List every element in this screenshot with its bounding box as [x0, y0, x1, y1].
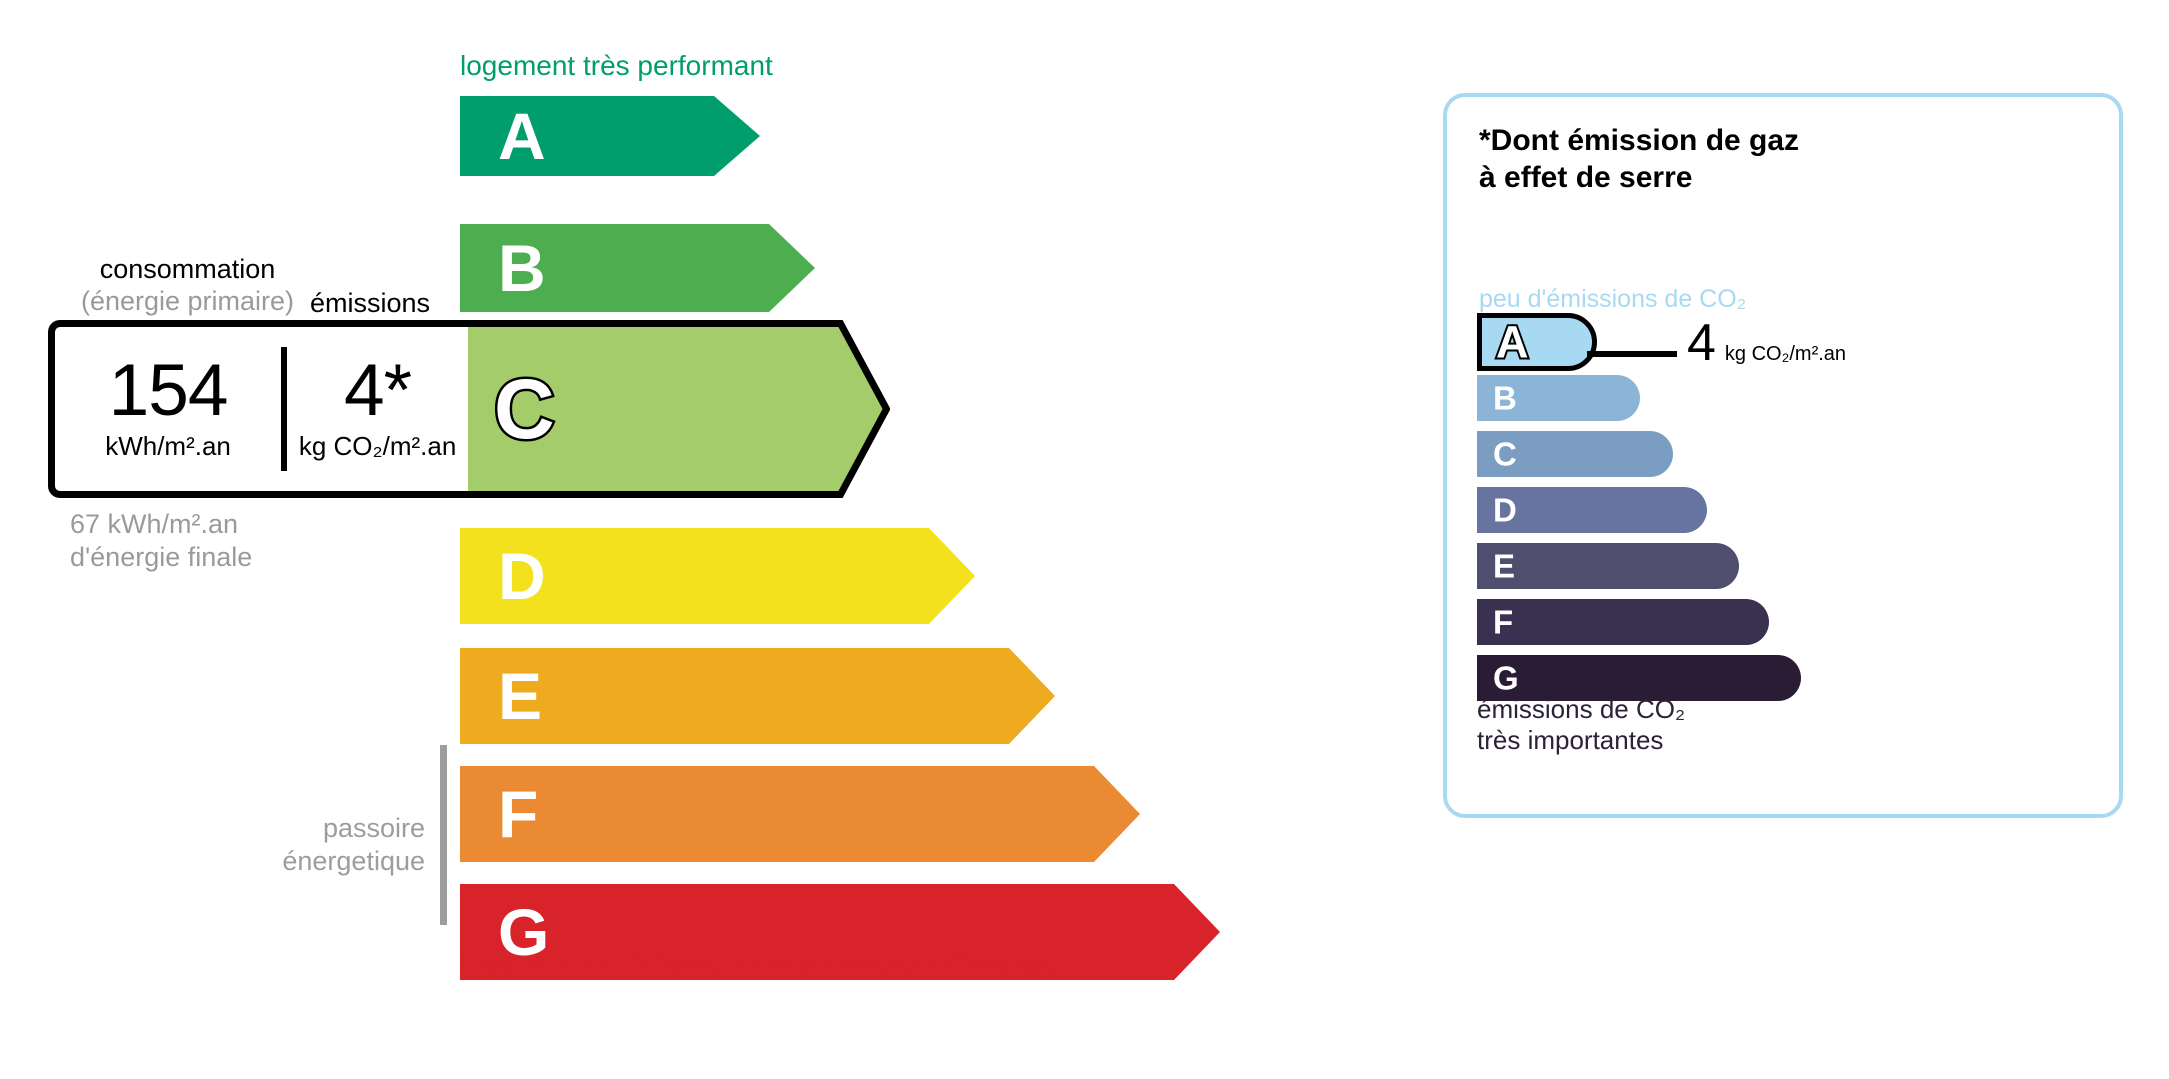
co2-bar-letter-b: B — [1493, 382, 1517, 415]
passoire-label: passoire énergetique — [250, 812, 425, 878]
co2-bottom-label-line2: très importantes — [1477, 725, 1685, 756]
co2-unit: kg CO₂/m².an — [1725, 343, 1846, 366]
consumption-value: 154 — [109, 356, 228, 425]
co2-bar-letter-e: E — [1493, 550, 1515, 583]
co2-bar-letter-a: A — [1496, 320, 1529, 365]
energy-bar-a: A — [460, 96, 760, 176]
co2-bar-letter-g: G — [1493, 662, 1519, 695]
energy-bar-shape-a — [460, 96, 760, 176]
co2-leader-line — [1587, 351, 1677, 357]
co2-bar-e: E — [1477, 543, 1739, 589]
consommation-label: consommation (énergie primaire) — [70, 254, 305, 318]
energy-bar-shape-f — [460, 766, 1140, 862]
co2-bar-c: C — [1477, 431, 1673, 477]
final-energy-value: 67 kWh/m².an — [70, 508, 252, 541]
passoire-marker-line — [440, 745, 447, 925]
co2-title-line1: *Dont émission de gaz — [1479, 123, 1799, 160]
co2-bar-letter-c: C — [1493, 438, 1517, 471]
emission-unit: kg CO₂/m².an — [299, 431, 456, 462]
final-energy-note: 67 kWh/m².an d'énergie finale — [70, 508, 252, 574]
consommation-label-sub: (énergie primaire) — [70, 286, 305, 318]
passoire-label-line1: passoire — [250, 812, 425, 845]
energy-bar-d: D — [460, 528, 975, 624]
consumption-unit: kWh/m².an — [105, 431, 231, 462]
co2-bar-f: F — [1477, 599, 1769, 645]
co2-bottom-label-line1: émissions de CO₂ — [1477, 694, 1685, 725]
value-box: 154 kWh/m².an 4* kg CO₂/m².an — [48, 320, 468, 498]
energy-bar-f: F — [460, 766, 1140, 862]
co2-title-line2: à effet de serre — [1479, 160, 1799, 197]
co2-bottom-label: émissions de CO₂ très importantes — [1477, 694, 1685, 756]
energy-bar-shape-d — [460, 528, 975, 624]
co2-top-label: peu d'émissions de CO₂ — [1479, 285, 1746, 314]
consommation-label-main: consommation — [100, 254, 276, 284]
energy-bar-e: E — [460, 648, 1055, 744]
co2-panel: *Dont émission de gaz à effet de serre p… — [1443, 93, 2123, 818]
co2-value-group: 4 kg CO₂/m².an — [1687, 317, 1846, 369]
emission-cell: 4* kg CO₂/m².an — [287, 327, 468, 491]
energy-bar-shape-c — [460, 320, 890, 498]
energy-bar-shape-e — [460, 648, 1055, 744]
passoire-label-line2: énergetique — [250, 845, 425, 878]
energy-bar-c: C — [460, 320, 890, 498]
co2-bar-d: D — [1477, 487, 1707, 533]
consumption-cell: 154 kWh/m².an — [55, 327, 281, 491]
co2-bar-letter-f: F — [1493, 606, 1513, 639]
co2-panel-title: *Dont émission de gaz à effet de serre — [1479, 123, 1799, 196]
dpe-energy-scale: logement très performant ABCDEFG logemen… — [0, 0, 1400, 1079]
energy-bar-shape-b — [460, 224, 815, 312]
emissions-label: émissions — [310, 288, 430, 320]
energy-bar-b: B — [460, 224, 815, 312]
co2-bar-b: B — [1477, 375, 1640, 421]
final-energy-caption: d'énergie finale — [70, 541, 252, 574]
emission-value: 4* — [344, 356, 411, 425]
co2-bar-letter-d: D — [1493, 494, 1517, 527]
scale-bottom-label: logement extrêmement consommateur d'éner… — [460, 947, 1061, 979]
co2-bar-a: A — [1477, 313, 1597, 371]
co2-value: 4 — [1687, 317, 1716, 369]
scale-top-label: logement très performant — [460, 50, 773, 82]
